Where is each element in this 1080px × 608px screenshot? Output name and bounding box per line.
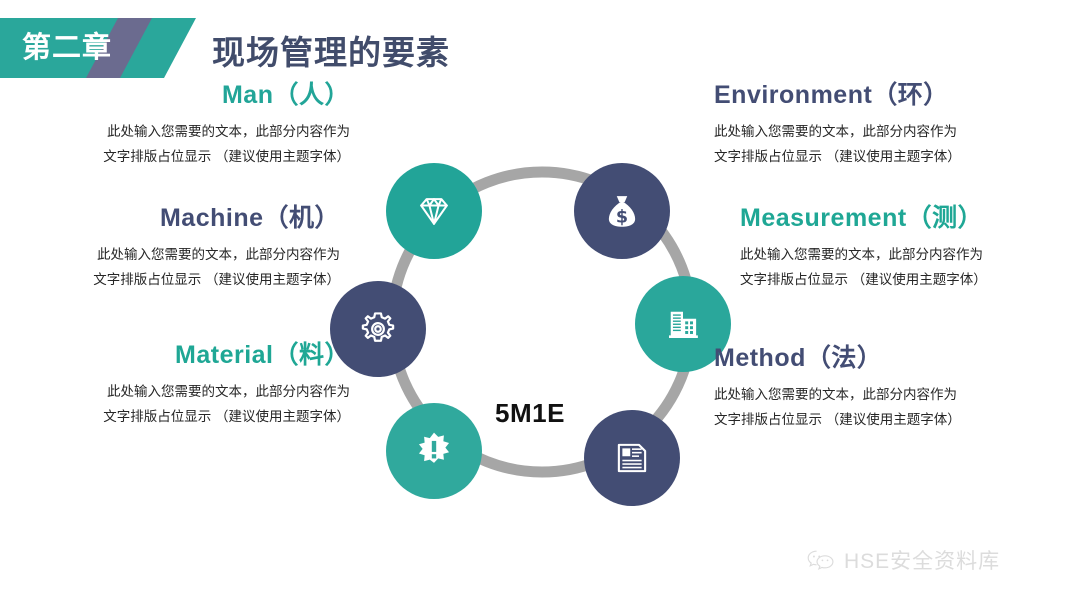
block-material: Material（料） 此处输入您需要的文本，此部分内容作为 文字排版占位显示 … — [30, 335, 350, 429]
block-environment-heading: Environment（环） — [714, 75, 1054, 111]
node-method[interactable] — [584, 410, 680, 506]
block-method-line1: 此处输入您需要的文本，此部分内容作为 — [714, 382, 1054, 407]
block-material-line2: 文字排版占位显示 （建议使用主题字体） — [30, 404, 350, 429]
node-environment[interactable]: $ — [574, 163, 670, 259]
block-method-heading: Method（法） — [714, 338, 1054, 374]
block-machine-line1: 此处输入您需要的文本，此部分内容作为 — [20, 242, 340, 267]
block-method: Method（法） 此处输入您需要的文本，此部分内容作为 文字排版占位显示 （建… — [714, 338, 1054, 432]
block-method-line2: 文字排版占位显示 （建议使用主题字体） — [714, 407, 1054, 432]
hazard-icon — [412, 429, 456, 473]
cycle-diagram: 5M1E $ — [0, 100, 1080, 560]
block-environment-line2: 文字排版占位显示 （建议使用主题字体） — [714, 144, 1054, 169]
block-man-heading: Man（人） — [30, 75, 350, 111]
block-machine-line2: 文字排版占位显示 （建议使用主题字体） — [20, 267, 340, 292]
node-material[interactable] — [386, 403, 482, 499]
block-measurement-heading: Measurement（测） — [740, 198, 1060, 234]
block-material-line1: 此处输入您需要的文本，此部分内容作为 — [30, 379, 350, 404]
node-man[interactable] — [386, 163, 482, 259]
svg-text:$: $ — [616, 207, 628, 227]
diamond-icon — [412, 189, 456, 233]
block-measurement: Measurement（测） 此处输入您需要的文本，此部分内容作为 文字排版占位… — [740, 198, 1060, 292]
block-material-heading: Material（料） — [30, 335, 350, 371]
block-machine: Machine（机） 此处输入您需要的文本，此部分内容作为 文字排版占位显示 （… — [20, 198, 340, 292]
block-machine-heading: Machine（机） — [20, 198, 340, 234]
watermark-text: HSE安全资料库 — [844, 545, 1000, 575]
block-man-line1: 此处输入您需要的文本，此部分内容作为 — [30, 119, 350, 144]
block-measurement-line1: 此处输入您需要的文本，此部分内容作为 — [740, 242, 1060, 267]
building-icon — [662, 303, 704, 345]
block-man-line2: 文字排版占位显示 （建议使用主题字体） — [30, 144, 350, 169]
wechat-icon — [806, 548, 836, 572]
block-man: Man（人） 此处输入您需要的文本，此部分内容作为 文字排版占位显示 （建议使用… — [30, 75, 350, 169]
chapter-label: 第二章 — [22, 28, 152, 68]
watermark: HSE安全资料库 — [806, 545, 1000, 575]
block-environment-line1: 此处输入您需要的文本，此部分内容作为 — [714, 119, 1054, 144]
gear-icon — [356, 307, 400, 351]
page-title: 现场管理的要素 — [212, 26, 450, 74]
block-measurement-line2: 文字排版占位显示 （建议使用主题字体） — [740, 267, 1060, 292]
block-environment: Environment（环） 此处输入您需要的文本，此部分内容作为 文字排版占位… — [714, 75, 1054, 169]
document-icon — [611, 437, 653, 479]
money-bag-icon: $ — [601, 190, 643, 232]
